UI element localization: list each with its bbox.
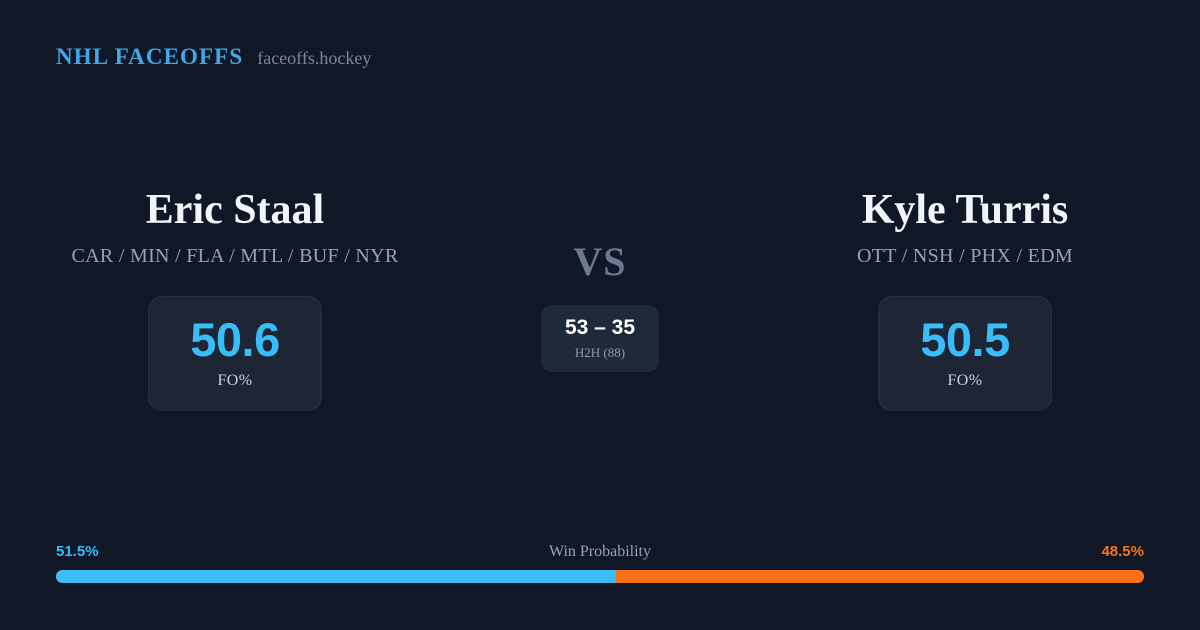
win-probability-labels: 51.5% Win Probability 48.5% [56, 543, 1144, 561]
win-probability-right-value: 48.5% [1101, 543, 1144, 560]
player-left-name: Eric Staal [146, 186, 324, 236]
player-right-stat-label: FO% [948, 372, 983, 390]
brand-title: NHL FACEOFFS [56, 44, 243, 70]
brand-domain: faceoffs.hockey [257, 48, 371, 69]
player-left: Eric Staal CAR / MIN / FLA / MTL / BUF /… [0, 186, 470, 411]
player-right: Kyle Turris OTT / NSH / PHX / EDM 50.5 F… [730, 186, 1200, 411]
win-probability-bar [56, 570, 1144, 583]
versus-column: VS 53 – 35 H2H (88) [470, 186, 730, 372]
player-right-name: Kyle Turris [862, 186, 1069, 236]
player-left-stat-card: 50.6 FO% [148, 296, 322, 411]
head-to-head-badge: 53 – 35 H2H (88) [541, 305, 659, 372]
win-probability-section: 51.5% Win Probability 48.5% [56, 543, 1144, 583]
player-right-faceoff-percentage: 50.5 [920, 316, 1009, 363]
head-to-head-label: H2H (88) [575, 345, 625, 361]
player-left-stat-label: FO% [218, 372, 253, 390]
head-to-head-score: 53 – 35 [565, 317, 635, 338]
player-left-teams: CAR / MIN / FLA / MTL / BUF / NYR [72, 245, 399, 268]
player-right-teams: OTT / NSH / PHX / EDM [857, 245, 1073, 268]
win-probability-left-value: 51.5% [56, 543, 99, 560]
player-left-faceoff-percentage: 50.6 [190, 316, 279, 363]
player-right-stat-card: 50.5 FO% [878, 296, 1052, 411]
versus-label: VS [573, 242, 626, 282]
win-probability-title: Win Probability [549, 543, 651, 561]
brand-header: NHL FACEOFFS faceoffs.hockey [56, 44, 371, 70]
matchup-section: Eric Staal CAR / MIN / FLA / MTL / BUF /… [0, 186, 1200, 411]
win-probability-bar-right-fill [616, 570, 1144, 583]
win-probability-bar-left-fill [56, 570, 616, 583]
